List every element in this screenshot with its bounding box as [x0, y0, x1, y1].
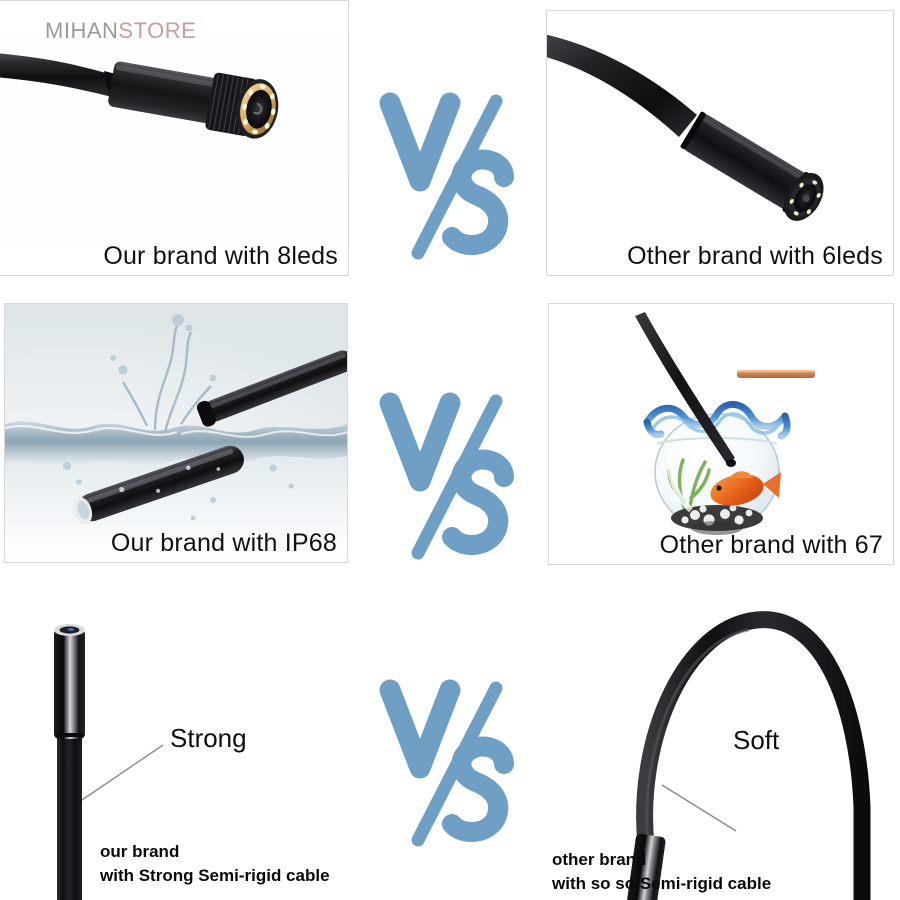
wooden-plank	[737, 370, 815, 378]
leader-line-soft	[662, 785, 736, 831]
vs-mark-top	[378, 85, 523, 270]
leader-line-strong	[82, 745, 163, 800]
photo-water-splash	[5, 304, 347, 562]
vs-mark-middle	[378, 385, 523, 570]
cable-shaft	[57, 733, 82, 900]
splash-plume	[123, 326, 211, 432]
footnote-other-brand-line1: other brand	[552, 848, 771, 872]
water-splash-illustration	[5, 304, 347, 562]
footnote-our-brand-line2: with Strong Semi-rigid cable	[100, 864, 330, 888]
panel-our-ip68: Our brand with IP68	[4, 303, 348, 563]
caption-other-67: Other brand with 67	[660, 531, 883, 560]
vs-bottom-icon	[378, 672, 523, 852]
photo-fishbowl	[549, 304, 893, 564]
caption-other-6leds: Other brand with 6leds	[627, 242, 883, 271]
footnote-other-brand-line2: with so so Semi-rigid cable	[552, 872, 771, 896]
callout-strong-label: Strong	[170, 723, 247, 754]
caption-our-ip68: Our brand with IP68	[111, 529, 337, 558]
endoscope-6leds-illustration	[547, 11, 893, 275]
head-seam	[55, 733, 84, 737]
cable-tail	[547, 33, 697, 137]
infographic-canvas: MIHANSTORE	[0, 0, 900, 900]
footnote-other-brand: other brand with so so Semi-rigid cable	[552, 848, 771, 896]
footnote-our-brand-line1: our brand	[100, 840, 330, 864]
vs-middle-icon	[378, 385, 523, 565]
watermark-text-primary: MIHAN	[45, 18, 118, 43]
brand-watermark: MIHANSTORE	[45, 18, 196, 44]
probe-upper	[195, 345, 347, 428]
caption-our-8leds: Our brand with 8leds	[103, 242, 338, 271]
callout-soft-label: Soft	[733, 725, 779, 756]
panel-other-6leds: Other brand with 6leds	[546, 10, 894, 276]
watermark-text-secondary: STORE	[118, 18, 196, 43]
fish-bowl	[647, 404, 787, 535]
lens-glint	[68, 628, 75, 631]
fishbowl-illustration	[549, 304, 893, 564]
footnote-our-brand: our brand with Strong Semi-rigid cable	[100, 840, 330, 888]
cable-tail	[0, 53, 112, 97]
camera-head-housing	[54, 629, 85, 739]
photo-endoscope-6leds	[547, 11, 893, 275]
vs-top-icon	[378, 85, 523, 265]
cable-tip	[726, 459, 736, 467]
panel-other-67: Other brand with 67	[548, 303, 894, 565]
vs-mark-bottom	[378, 672, 523, 857]
